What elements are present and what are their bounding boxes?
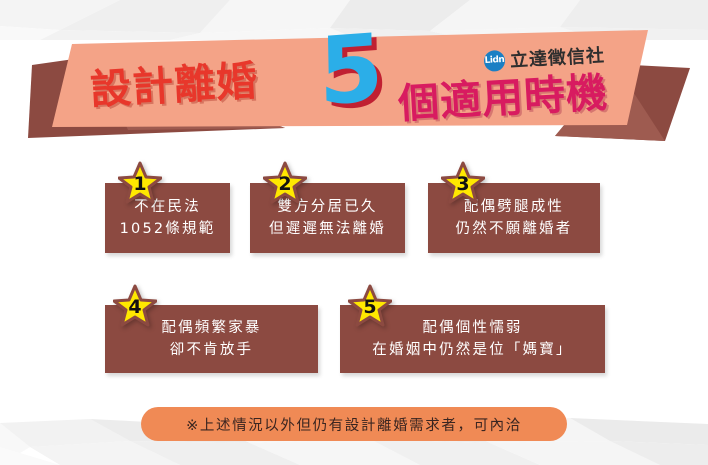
item-1-line-2: 1052條規範 bbox=[120, 218, 216, 240]
infographic-canvas: 設計離婚 5 個適用時機 Lidn 立達徵信社 不在民法 1052條規範 1 雙… bbox=[0, 0, 708, 465]
star-badge-4 bbox=[113, 284, 157, 328]
ribbon-main-band bbox=[52, 30, 648, 127]
item-4-line-1: 配偶頻繁家暴 bbox=[161, 317, 261, 339]
star-badge-5 bbox=[348, 284, 392, 328]
footer-note-text: ※上述情況以外但仍有設計離婚需求者，可內洽 bbox=[186, 414, 522, 435]
header-ribbon bbox=[0, 8, 708, 148]
item-2-line-2: 但遲遲無法離婚 bbox=[269, 218, 386, 240]
item-3-line-2: 仍然不願離婚者 bbox=[456, 218, 573, 240]
star-badge-1 bbox=[118, 161, 162, 205]
item-5-line-1: 配偶個性懦弱 bbox=[422, 317, 522, 339]
star-badge-3 bbox=[441, 161, 485, 205]
item-5-line-2: 在婚姻中仍然是位「媽寶」 bbox=[372, 339, 572, 361]
footer-note-pill: ※上述情況以外但仍有設計離婚需求者，可內洽 bbox=[141, 407, 567, 441]
star-badge-2 bbox=[263, 161, 307, 205]
item-4-line-2: 卻不肯放手 bbox=[170, 339, 254, 361]
